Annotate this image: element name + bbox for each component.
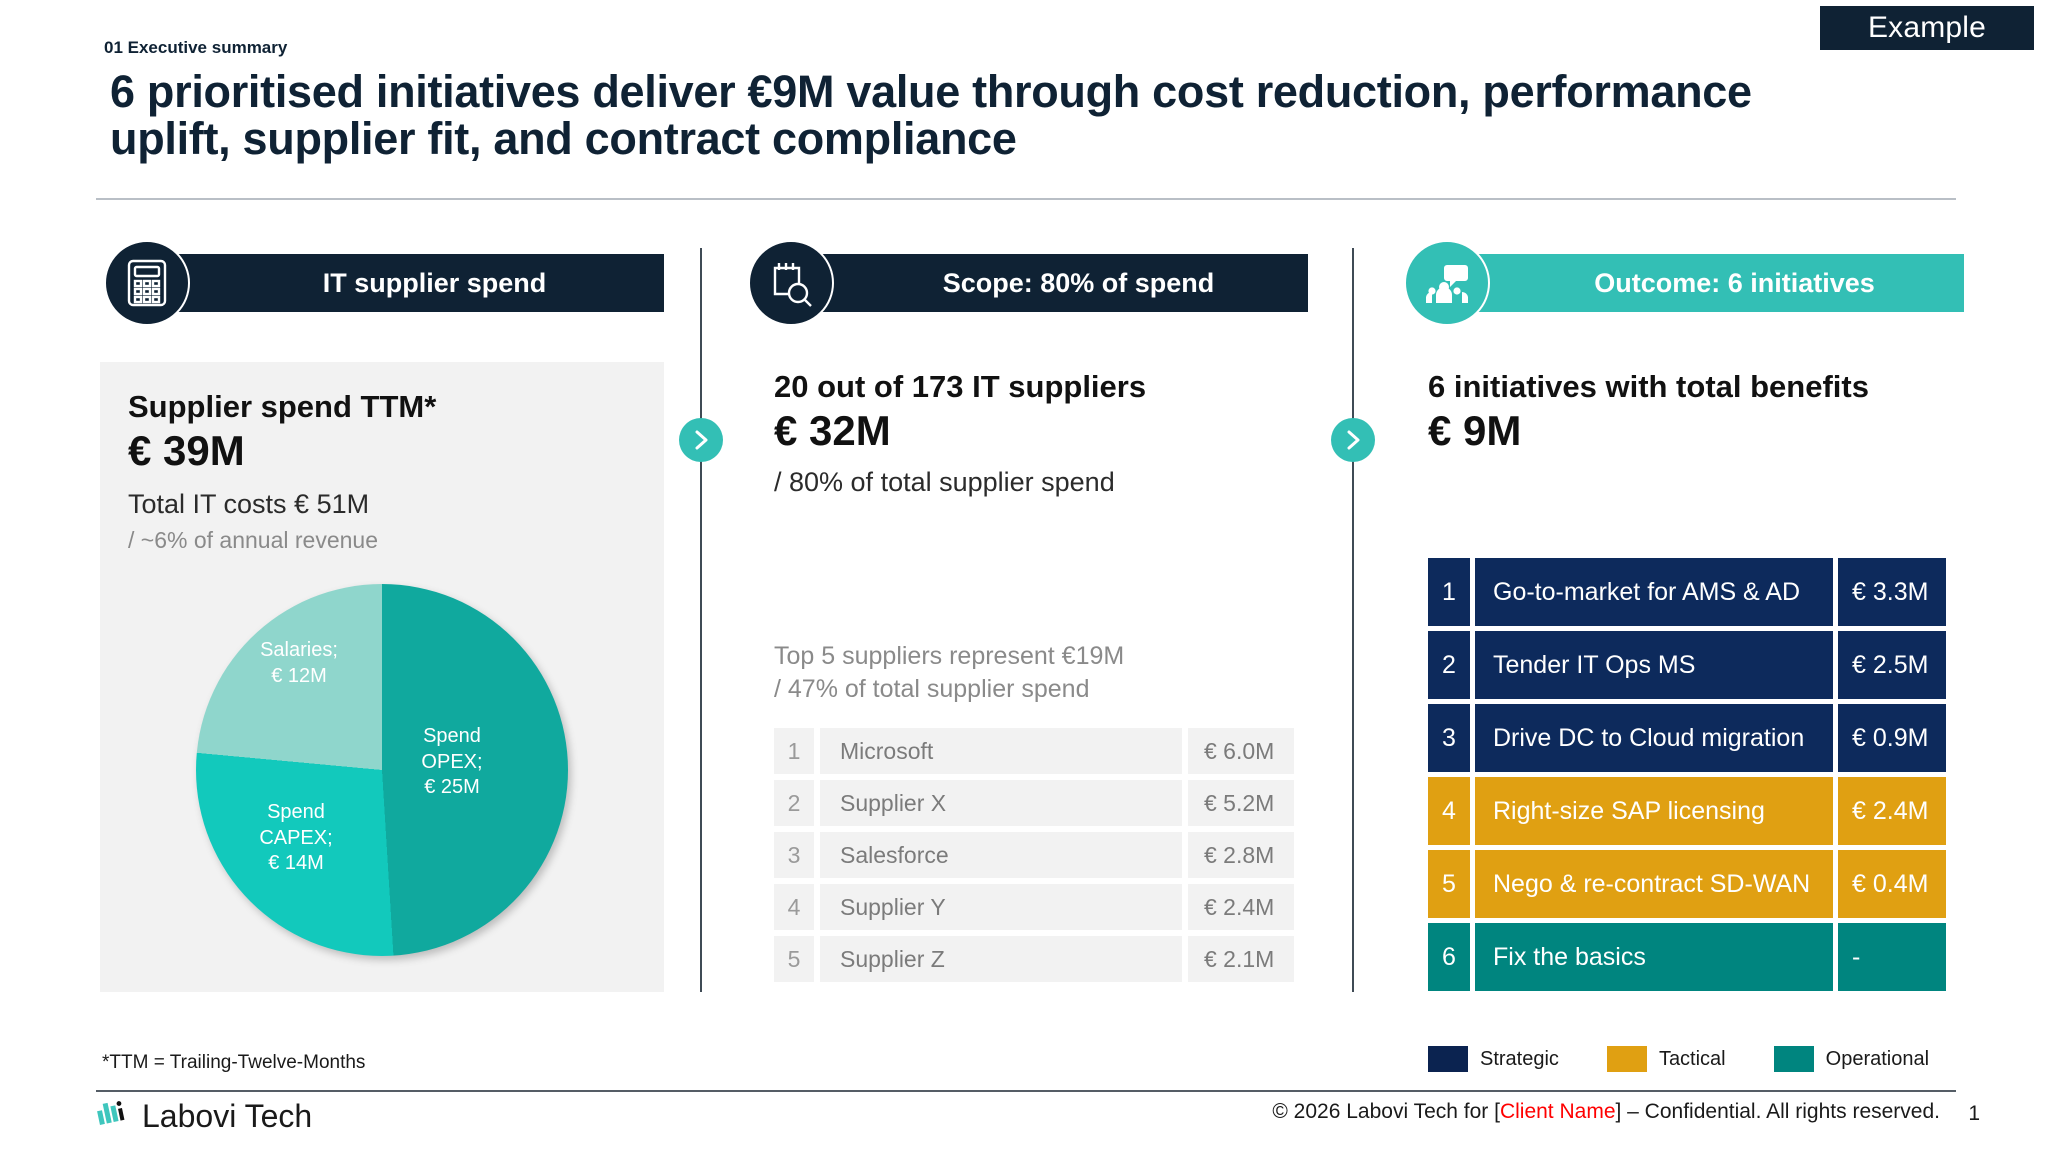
legend-label: Tactical — [1659, 1048, 1726, 1071]
copyright-before: © 2026 Labovi Tech for [ — [1272, 1100, 1500, 1123]
category-legend: StrategicTacticalOperational — [1428, 1046, 1929, 1072]
table-row: 4Right-size SAP licensing€ 2.4M — [1428, 777, 1946, 845]
column-divider-1 — [700, 248, 702, 992]
scope-kpi-block: 20 out of 173 IT suppliers € 32M / 80% o… — [774, 368, 1314, 500]
initiative-value: € 2.5M — [1838, 631, 1946, 699]
supplier-rank: 5 — [774, 936, 814, 982]
title-divider — [96, 198, 1956, 200]
column-header-label: IT supplier spend — [323, 268, 547, 299]
initiative-name: Tender IT Ops MS — [1475, 631, 1833, 699]
supplier-value: € 2.8M — [1188, 832, 1294, 878]
page-title: 6 prioritised initiatives deliver €9M va… — [110, 68, 1840, 163]
pie-label-opex: Spend OPEX; € 25M — [392, 724, 512, 801]
kpi-value: € 32M — [774, 407, 1314, 455]
column-header-label: Outcome: 6 initiatives — [1594, 268, 1875, 299]
initiative-name: Drive DC to Cloud migration — [1475, 704, 1833, 772]
initiative-rank: 6 — [1428, 923, 1470, 991]
table-row: 3Drive DC to Cloud migration€ 0.9M — [1428, 704, 1946, 772]
table-row: 5Supplier Z€ 2.1M — [774, 936, 1294, 982]
table-row: 5Nego & re-contract SD-WAN€ 0.4M — [1428, 850, 1946, 918]
column-divider-2 — [1352, 248, 1354, 992]
initiative-value: € 3.3M — [1838, 558, 1946, 626]
supplier-value: € 2.1M — [1188, 936, 1294, 982]
legend-item: Strategic — [1428, 1046, 1559, 1072]
top-suppliers-table: 1Microsoft€ 6.0M2Supplier X€ 5.2M3Salesf… — [774, 728, 1294, 988]
top5-note-line1: Top 5 suppliers represent €19M — [774, 640, 1124, 673]
legend-label: Strategic — [1480, 1048, 1559, 1071]
initiative-rank: 2 — [1428, 631, 1470, 699]
footer-divider — [96, 1090, 1956, 1092]
legend-swatch — [1428, 1046, 1468, 1072]
initiative-rank: 5 — [1428, 850, 1470, 918]
copyright-client: Client Name — [1500, 1100, 1616, 1123]
brand-name: Labovi Tech — [142, 1098, 312, 1135]
initiative-rank: 4 — [1428, 777, 1470, 845]
legend-item: Tactical — [1607, 1046, 1726, 1072]
pie-label-capex: Spend CAPEX; € 14M — [232, 800, 360, 877]
chevron-right-icon — [1331, 418, 1375, 462]
kpi-title: 20 out of 173 IT suppliers — [774, 368, 1314, 407]
supplier-value: € 2.4M — [1188, 884, 1294, 930]
column-header-scope: Scope: 80% of spend — [748, 254, 1308, 312]
supplier-rank: 3 — [774, 832, 814, 878]
initiative-rank: 3 — [1428, 704, 1470, 772]
labovi-logo-icon — [96, 1098, 130, 1135]
example-badge-label: Example — [1868, 11, 1986, 45]
table-row: 1Go-to-market for AMS & AD€ 3.3M — [1428, 558, 1946, 626]
page-number: 1 — [1968, 1102, 1980, 1126]
spend-pie-chart: Spend OPEX; € 25M Salaries; € 12M Spend … — [196, 584, 568, 956]
column-header-outcome: Outcome: 6 initiatives — [1404, 254, 1964, 312]
legend-swatch — [1607, 1046, 1647, 1072]
kpi-subtext: / 80% of total supplier spend — [774, 465, 1314, 500]
table-row: 1Microsoft€ 6.0M — [774, 728, 1294, 774]
supplier-name: Supplier Z — [820, 936, 1182, 982]
group-speech-icon — [1404, 240, 1490, 326]
copyright: © 2026 Labovi Tech for [Client Name] – C… — [1272, 1100, 1940, 1124]
table-row: 4Supplier Y€ 2.4M — [774, 884, 1294, 930]
kpi-subtext: Total IT costs € 51M — [128, 487, 664, 522]
column-header-bar: Outcome: 6 initiatives — [1459, 254, 1964, 312]
top5-note-line2: / 47% of total supplier spend — [774, 673, 1124, 706]
column-header-bar: IT supplier spend — [159, 254, 664, 312]
calculator-icon — [104, 240, 190, 326]
supplier-value: € 6.0M — [1188, 728, 1294, 774]
supplier-name: Supplier Y — [820, 884, 1182, 930]
supplier-rank: 2 — [774, 780, 814, 826]
pie-label-salaries: Salaries; € 12M — [234, 638, 364, 689]
chevron-right-icon — [679, 418, 723, 462]
initiatives-table: 1Go-to-market for AMS & AD€ 3.3M2Tender … — [1428, 558, 1946, 996]
initiative-name: Go-to-market for AMS & AD — [1475, 558, 1833, 626]
kpi-note: / ~6% of annual revenue — [128, 526, 664, 556]
table-row: 3Salesforce€ 2.8M — [774, 832, 1294, 878]
column-header-bar: Scope: 80% of spend — [803, 254, 1308, 312]
brand: Labovi Tech — [96, 1098, 312, 1135]
initiative-name: Fix the basics — [1475, 923, 1833, 991]
outcome-kpi-block: 6 initiatives with total benefits € 9M — [1428, 368, 1968, 455]
notepad-search-icon — [748, 240, 834, 326]
copyright-after: ] – Confidential. All rights reserved. — [1616, 1100, 1941, 1123]
initiative-name: Nego & re-contract SD-WAN — [1475, 850, 1833, 918]
kpi-value: € 9M — [1428, 407, 1968, 455]
example-badge: Example — [1820, 6, 2034, 50]
initiative-value: € 2.4M — [1838, 777, 1946, 845]
initiative-rank: 1 — [1428, 558, 1470, 626]
footnote: *TTM = Trailing-Twelve-Months — [102, 1052, 365, 1074]
supplier-name: Salesforce — [820, 832, 1182, 878]
supplier-name: Supplier X — [820, 780, 1182, 826]
kpi-title: Supplier spend TTM* — [128, 388, 664, 427]
kpi-value: € 39M — [128, 427, 664, 475]
initiative-value: - — [1838, 923, 1946, 991]
column-header-it-supplier-spend: IT supplier spend — [104, 254, 664, 312]
initiative-name: Right-size SAP licensing — [1475, 777, 1833, 845]
supplier-rank: 4 — [774, 884, 814, 930]
legend-swatch — [1774, 1046, 1814, 1072]
legend-label: Operational — [1826, 1048, 1929, 1071]
initiative-value: € 0.4M — [1838, 850, 1946, 918]
initiative-value: € 0.9M — [1838, 704, 1946, 772]
column-header-label: Scope: 80% of spend — [943, 268, 1215, 299]
table-row: 2Tender IT Ops MS€ 2.5M — [1428, 631, 1946, 699]
supplier-rank: 1 — [774, 728, 814, 774]
kpi-title: 6 initiatives with total benefits — [1428, 368, 1968, 407]
section-eyebrow: 01 Executive summary — [104, 38, 287, 58]
supplier-name: Microsoft — [820, 728, 1182, 774]
legend-item: Operational — [1774, 1046, 1929, 1072]
top5-note: Top 5 suppliers represent €19M / 47% of … — [774, 640, 1124, 706]
table-row: 2Supplier X€ 5.2M — [774, 780, 1294, 826]
table-row: 6Fix the basics- — [1428, 923, 1946, 991]
supplier-value: € 5.2M — [1188, 780, 1294, 826]
